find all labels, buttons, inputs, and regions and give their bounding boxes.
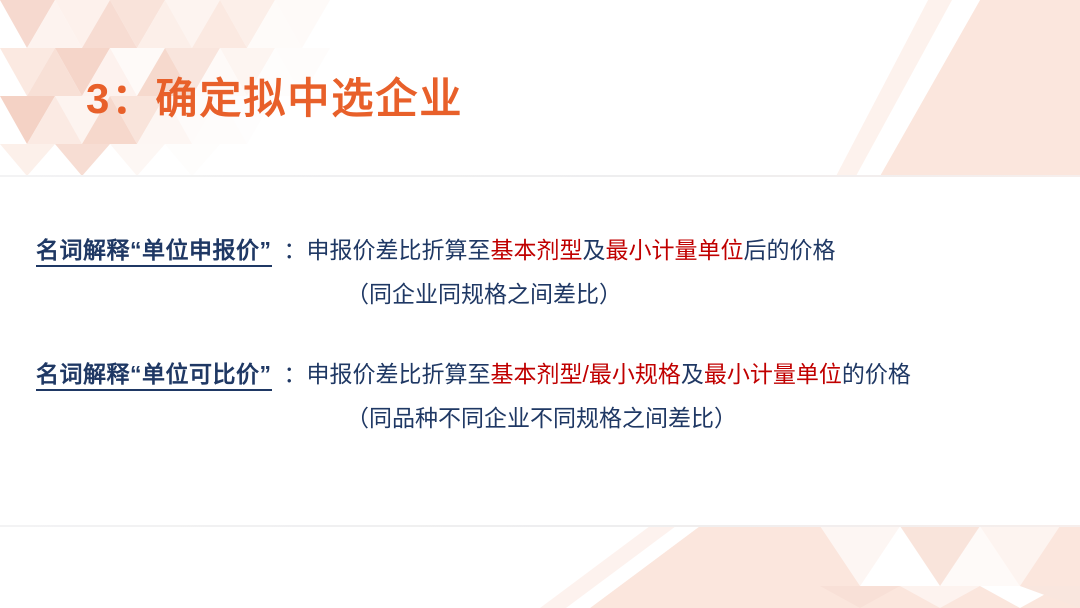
definition-segment-4: 的价格 (842, 361, 911, 387)
definition-segment-1: 基本剂型/最小规格 (491, 361, 681, 387)
definition-segment-3: 最小计量单位 (606, 237, 744, 263)
definition-note: （同企业同规格之间差比） (36, 272, 1046, 316)
footer-divider (0, 525, 1080, 527)
definition-list: 名词解释“单位申报价”：申报价差比折算至基本剂型及最小计量单位后的价格 （同企业… (36, 228, 1046, 440)
definition-segment-2: 及 (583, 237, 606, 263)
definition-line-primary: 名词解释“单位申报价”：申报价差比折算至基本剂型及最小计量单位后的价格 (36, 228, 1046, 272)
definition-segment-0: 申报价差比折算至 (307, 361, 491, 387)
definition-segment-2: 及 (681, 361, 704, 387)
slide-canvas: 3：确定拟中选企业 名词解释“单位申报价”：申报价差比折算至基本剂型及最小计量单… (0, 0, 1080, 608)
triangle-mesh-footer-right (820, 526, 1080, 608)
diagonal-bands-right (820, 0, 1080, 176)
definition-term-label: 名词解释“单位申报价” (36, 237, 272, 267)
definition-colon: ： (284, 361, 307, 387)
definition-line-primary: 名词解释“单位可比价”：申报价差比折算至基本剂型/最小规格及最小计量单位的价格 (36, 352, 1046, 396)
definition-segment-3: 最小计量单位 (704, 361, 842, 387)
definition-colon: ： (284, 237, 307, 263)
footer-decoration (0, 526, 1080, 608)
header-divider (0, 175, 1080, 177)
page-title: 3：确定拟中选企业 (86, 76, 463, 122)
definition-segment-4: 后的价格 (744, 237, 836, 263)
definition-note: （同品种不同企业不同规格之间差比） (36, 396, 1046, 440)
definition-term-label: 名词解释“单位可比价” (36, 361, 272, 391)
definition-segment-0: 申报价差比折算至 (307, 237, 491, 263)
definition-segment-1: 基本剂型 (491, 237, 583, 263)
diagonal-bands-footer (540, 526, 1080, 608)
definition-block-unit-bid-price: 名词解释“单位申报价”：申报价差比折算至基本剂型及最小计量单位后的价格 （同企业… (36, 228, 1046, 316)
definition-block-unit-comparable-price: 名词解释“单位可比价”：申报价差比折算至基本剂型/最小规格及最小计量单位的价格 … (36, 352, 1046, 440)
footer-shapes-svg (0, 526, 1080, 608)
